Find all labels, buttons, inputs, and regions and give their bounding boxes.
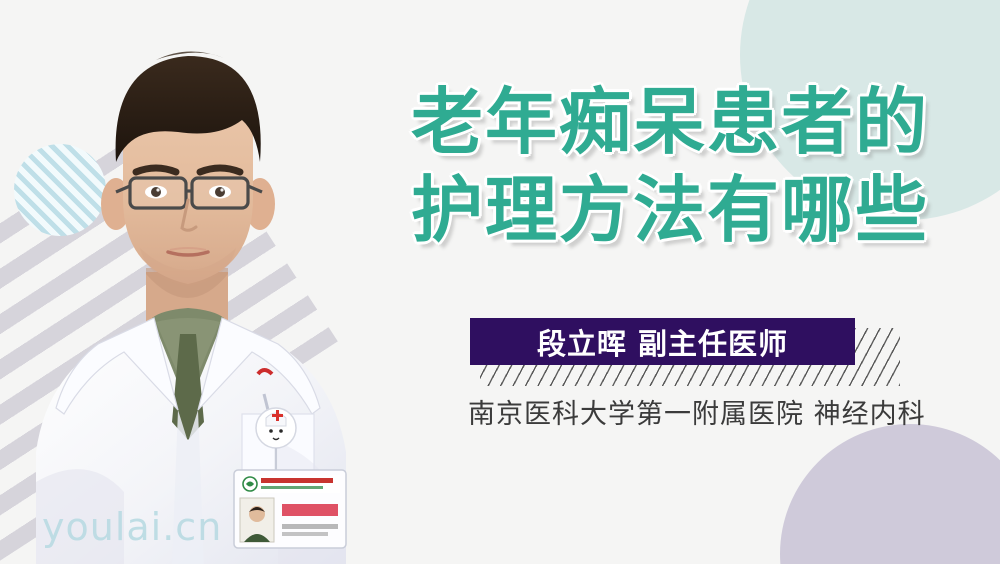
video-cover-canvas: 老年痴呆患者的 护理方法有哪些 段立晖 副主任医师 南京医科大学第一附属医院 神… bbox=[0, 0, 1000, 564]
speaker-name-text: 段立晖 副主任医师 bbox=[537, 321, 788, 363]
site-watermark: youlai.cn bbox=[42, 505, 222, 549]
speaker-name-row: 段立晖 副主任医师 bbox=[470, 318, 890, 380]
doctor-portrait bbox=[28, 22, 388, 564]
doctor-illustration bbox=[28, 22, 388, 564]
speaker-affiliation: 南京医科大学第一附属医院 神经内科 bbox=[468, 392, 988, 431]
text-content-column: 老年痴呆患者的 护理方法有哪些 段立晖 副主任医师 南京医科大学第一附属医院 神… bbox=[360, 0, 1000, 564]
title-line-2: 护理方法有哪些 bbox=[360, 166, 980, 254]
video-title: 老年痴呆患者的 护理方法有哪些 bbox=[360, 78, 980, 254]
id-badge bbox=[234, 470, 346, 548]
speaker-name-banner: 段立晖 副主任医师 bbox=[470, 318, 855, 365]
title-line-1: 老年痴呆患者的 bbox=[360, 78, 980, 166]
